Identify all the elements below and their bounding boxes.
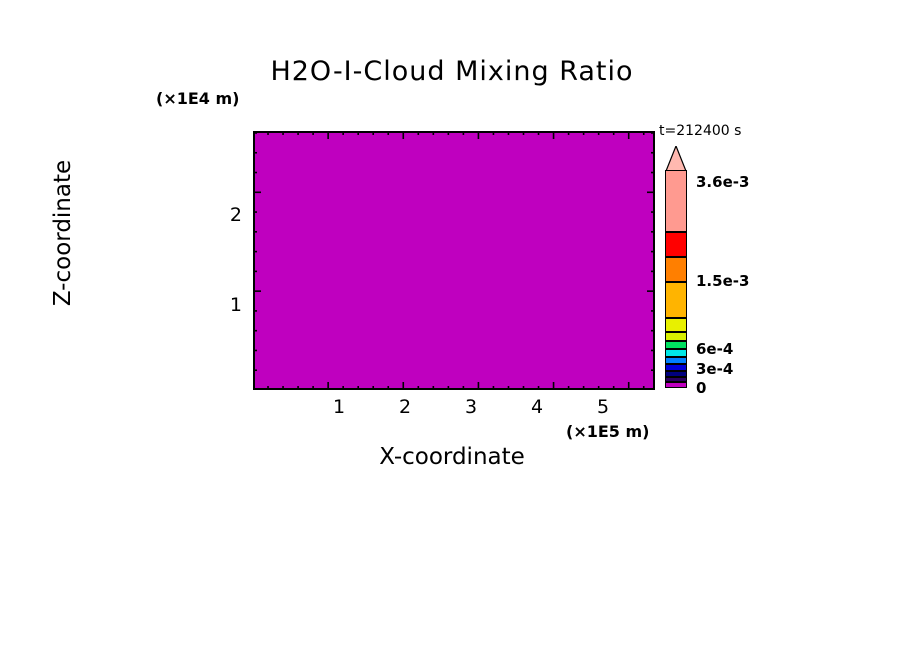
x-tick-label: 4	[517, 396, 557, 418]
colorbar-band	[665, 364, 687, 371]
colorbar-band	[665, 382, 687, 388]
colorbar-band	[665, 282, 687, 318]
x-tick-label: 5	[583, 396, 623, 418]
colorbar-arrow-cap	[665, 146, 687, 172]
colorbar-tick-label: 3.6e-3	[696, 173, 749, 191]
y-tick-label: 1	[212, 294, 242, 316]
time-label: t=212400 s	[659, 123, 741, 139]
x-tick-label: 3	[451, 396, 491, 418]
colorbar-tick-label: 0	[696, 379, 706, 397]
colorbar-band	[665, 232, 687, 257]
colorbar-band	[665, 257, 687, 282]
y-axis-title: Z-coordinate	[50, 108, 76, 358]
axis-ticks	[251, 129, 657, 392]
x-tick-label: 1	[319, 396, 359, 418]
colorbar-band	[665, 349, 687, 357]
colorbar	[665, 170, 687, 388]
x-axis-unit-label: (×1E5 m)	[566, 422, 649, 441]
page-title: H2O-I-Cloud Mixing Ratio	[0, 56, 904, 87]
y-axis-unit-label: (×1E4 m)	[156, 89, 239, 108]
y-tick-label: 2	[212, 204, 242, 226]
colorbar-band	[665, 357, 687, 364]
colorbar-tick-label: 3e-4	[696, 360, 733, 378]
colorbar-band	[665, 341, 687, 349]
colorbar-band	[665, 170, 687, 232]
figure-canvas: H2O-I-Cloud Mixing Ratio (×1E4 m) t=2124…	[0, 0, 904, 654]
colorbar-band	[665, 318, 687, 332]
x-tick-label: 2	[385, 396, 425, 418]
colorbar-tick-label: 1.5e-3	[696, 272, 749, 290]
x-axis-title: X-coordinate	[0, 444, 904, 470]
colorbar-band	[665, 332, 687, 341]
colorbar-tick-label: 6e-4	[696, 340, 733, 358]
plot-area	[253, 131, 655, 390]
